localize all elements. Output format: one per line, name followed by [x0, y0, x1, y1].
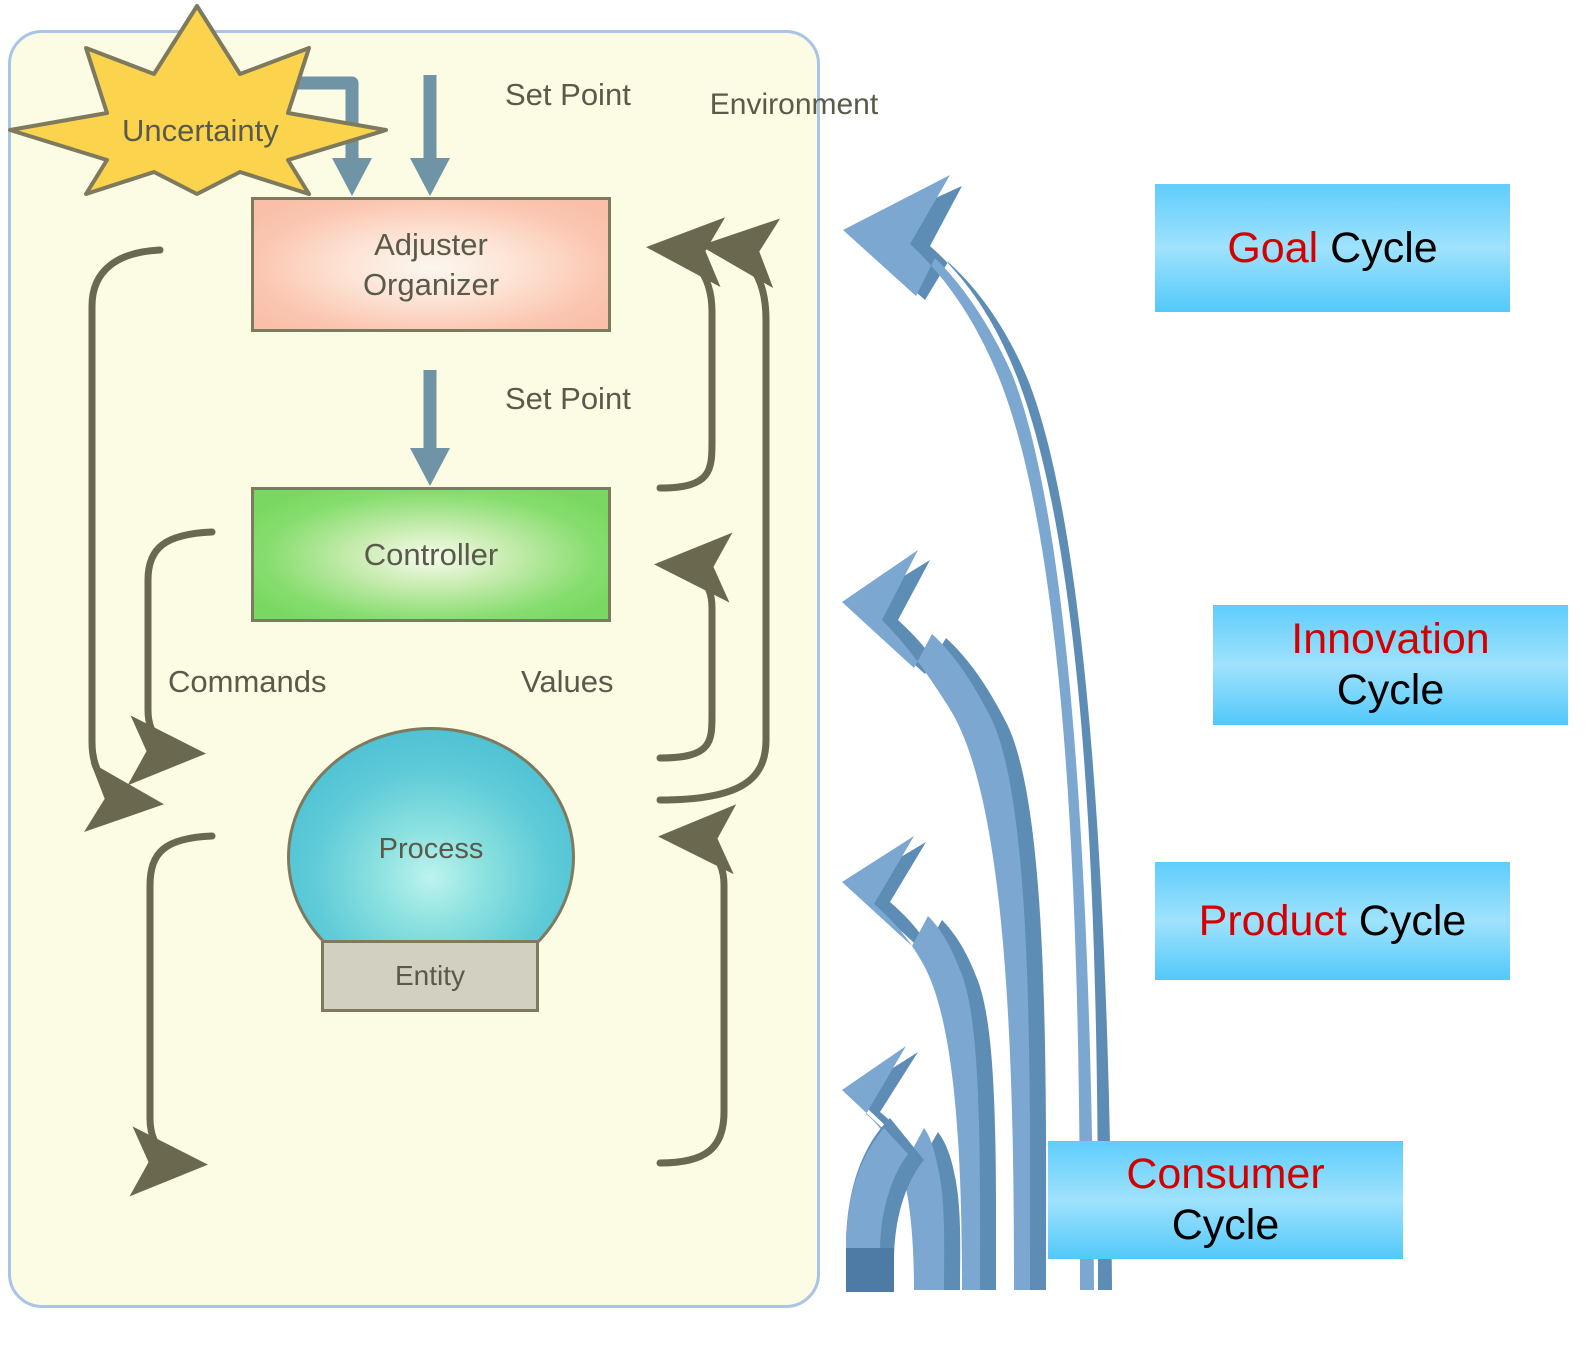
node-controller[interactable]: Controller — [251, 487, 611, 622]
label-commands: Commands — [168, 664, 327, 700]
cycle-label-consumer[interactable]: Consumer Cycle — [1048, 1141, 1403, 1259]
label-set-point-top: Set Point — [505, 77, 631, 113]
cycle-goal-highlight: Goal — [1227, 224, 1318, 272]
node-environment[interactable]: Environment — [0, 0, 395, 200]
cycle-arrow-base — [846, 1118, 924, 1292]
cycle-label-product[interactable]: Product Cycle — [1155, 862, 1510, 980]
process-label: Process — [379, 833, 484, 866]
adjuster-line-1: Adjuster — [363, 225, 499, 264]
controller-label: Controller — [364, 537, 498, 573]
cycle-innovation-highlight: Innovation — [1291, 614, 1489, 665]
cycle-label-goal[interactable]: Goal Cycle — [1155, 184, 1510, 312]
cycle-consumer-highlight: Consumer — [1126, 1149, 1324, 1200]
label-set-point-mid: Set Point — [505, 381, 631, 417]
adjuster-line-2: Organizer — [363, 265, 499, 304]
cycle-goal-rest: Cycle — [1318, 224, 1437, 272]
diagram-canvas: Adjuster Organizer Controller Process En… — [0, 0, 1588, 1350]
label-values: Values — [521, 664, 614, 700]
node-entity[interactable]: Entity — [321, 940, 539, 1012]
cycle-consumer-rest: Cycle — [1126, 1200, 1324, 1251]
cycle-arrow-goal — [843, 175, 1112, 1290]
cycle-product-highlight: Product — [1199, 897, 1347, 945]
entity-label: Entity — [395, 960, 465, 992]
cycle-label-innovation[interactable]: Innovation Cycle — [1213, 605, 1568, 725]
cycle-product-rest: Cycle — [1347, 897, 1466, 945]
cycle-innovation-rest: Cycle — [1291, 665, 1489, 716]
cycle-arrow-product — [842, 836, 996, 1290]
cycle-arrow-innovation — [842, 550, 1046, 1290]
label-uncertainty: Uncertainty — [122, 113, 279, 149]
cycle-arrow-consumer — [842, 1046, 960, 1290]
node-adjuster-organizer[interactable]: Adjuster Organizer — [251, 197, 611, 332]
